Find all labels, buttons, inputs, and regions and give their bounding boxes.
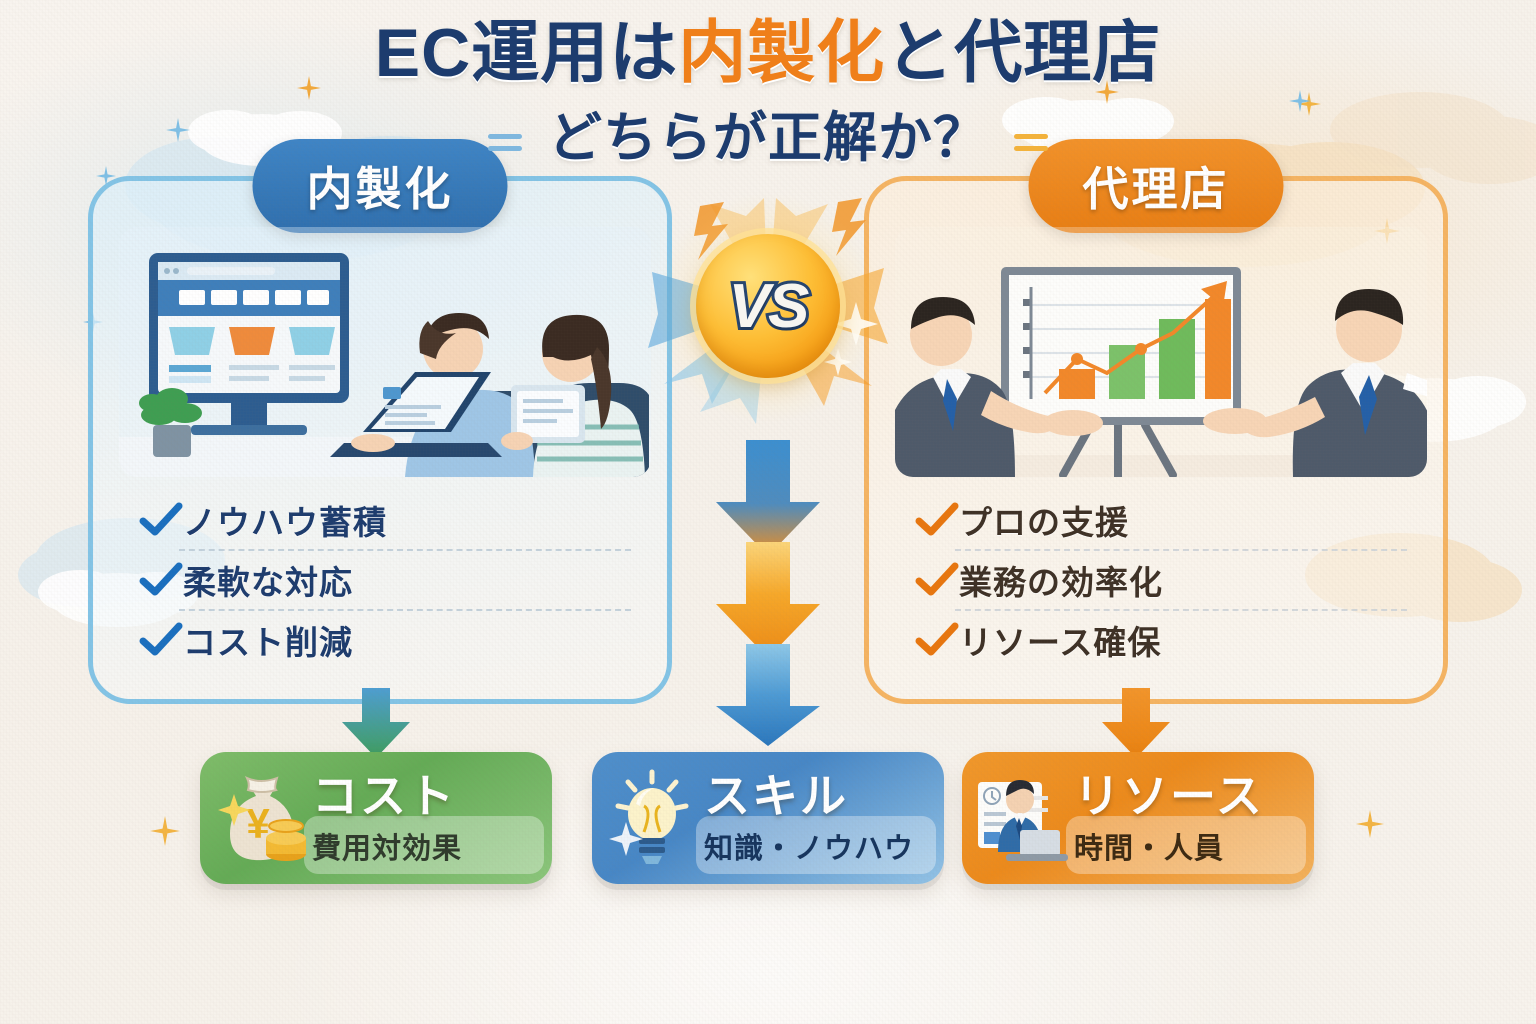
divider [955,609,1407,611]
vs-label: VS [729,271,808,342]
list-item[interactable]: リソース確保 [915,611,1415,669]
check-icon [139,562,183,598]
card-title: リソース [1074,760,1304,826]
divider [179,609,631,611]
divider [955,549,1407,551]
agency-illustration-svg [895,227,1427,477]
list-item-label: コスト削減 [183,616,353,664]
agency-feature-list: プロの支援 業務の効率化 リソース確保 [915,491,1415,669]
summary-card-skill[interactable]: スキル 知識・ノウハウ [592,752,944,884]
panel-in-house[interactable]: 内製化 [88,176,672,704]
summary-card-resource[interactable]: リソース 時間・人員 [962,752,1314,884]
title-part-pre: EC運用は [375,15,678,91]
lightbulb-icon [606,766,702,870]
in-house-feature-list: ノウハウ蓄積 柔軟な対応 コスト削減 [139,491,639,669]
check-icon [139,502,183,538]
list-item-label: ノウハウ蓄積 [183,496,387,544]
title-line-2: どちらが正解か？ [0,93,1536,172]
list-item[interactable]: コスト削減 [139,611,639,669]
card-subtitle: 知識・ノウハウ [704,820,932,872]
list-item-label: プロの支援 [959,496,1129,544]
check-icon [139,622,183,658]
title-part-highlight: 内製化 [678,15,885,91]
money-bag-icon: ¥ [214,766,310,870]
list-item[interactable]: ノウハウ蓄積 [139,491,639,549]
check-icon [915,622,959,658]
title-part-post: 代理店 [954,15,1161,91]
divider [179,549,631,551]
panel-agency[interactable]: 代理店 [864,176,1448,704]
vs-badge: VS [648,198,888,424]
subtitle-text: どちらが正解か？ [548,108,988,168]
card-subtitle: 費用対効果 [312,820,540,872]
check-icon [915,562,959,598]
card-subtitle: 時間・人員 [1074,820,1302,872]
list-item-label: 柔軟な対応 [183,556,353,604]
card-title: スキル [704,760,934,826]
list-item-label: リソース確保 [959,616,1161,664]
title-line-1: EC運用は内製化と代理店 [0,18,1536,89]
list-item-label: 業務の効率化 [959,556,1163,604]
dash-decor-left-icon [488,127,522,158]
card-title: コスト [312,760,542,826]
infographic-canvas: EC運用は内製化と代理店 どちらが正解か？ 内製化 [0,0,1536,1024]
check-icon [915,502,959,538]
in-house-illustration-svg [119,227,651,477]
vs-coin: VS [696,234,840,378]
summary-card-cost[interactable]: ¥ コスト 費用対効果 [200,752,552,884]
person-laptop-icon [976,766,1072,870]
dash-decor-right-icon [1014,127,1048,158]
agency-presentation-illustration [895,227,1427,477]
arrow-center-stack [700,440,836,755]
list-item[interactable]: 柔軟な対応 [139,551,639,609]
page-title: EC運用は内製化と代理店 どちらが正解か？ [0,18,1536,172]
in-house-team-illustration [119,227,651,477]
title-part-mid: と [885,15,954,91]
list-item[interactable]: プロの支援 [915,491,1415,549]
list-item[interactable]: 業務の効率化 [915,551,1415,609]
